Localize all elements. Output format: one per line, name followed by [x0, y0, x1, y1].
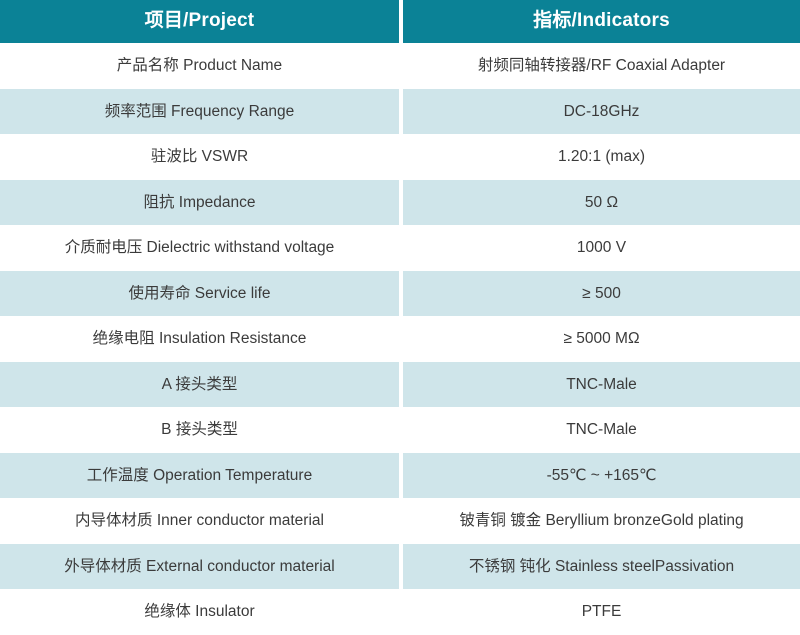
table-header: 项目/Project 指标/Indicators	[0, 0, 800, 43]
cell-indicators: 1000 V	[403, 225, 800, 271]
table-row: 绝缘体 InsulatorPTFE	[0, 589, 800, 635]
cell-project: 使用寿命 Service life	[0, 271, 399, 317]
table-row: 频率范围 Frequency RangeDC-18GHz	[0, 89, 800, 135]
cell-indicators: PTFE	[403, 589, 800, 635]
cell-indicators: 铍青铜 镀金 Beryllium bronzeGold plating	[403, 498, 800, 544]
table-row: 驻波比 VSWR1.20:1 (max)	[0, 134, 800, 180]
cell-indicators: ≥ 5000 MΩ	[403, 316, 800, 362]
header-row: 项目/Project 指标/Indicators	[0, 0, 800, 43]
table-row: 介质耐电压 Dielectric withstand voltage1000 V	[0, 225, 800, 271]
cell-project: 阻抗 Impedance	[0, 180, 399, 226]
specification-table: 项目/Project 指标/Indicators 产品名称 Product Na…	[0, 0, 800, 635]
column-header-indicators: 指标/Indicators	[403, 0, 800, 43]
cell-indicators: ≥ 500	[403, 271, 800, 317]
cell-indicators: TNC-Male	[403, 362, 800, 408]
cell-project: 绝缘体 Insulator	[0, 589, 399, 635]
cell-indicators: 50 Ω	[403, 180, 800, 226]
table-row: 绝缘电阻 Insulation Resistance≥ 5000 MΩ	[0, 316, 800, 362]
cell-indicators: 射频同轴转接器/RF Coaxial Adapter	[403, 43, 800, 89]
table-row: 外导体材质 External conductor material不锈钢 钝化 …	[0, 544, 800, 590]
cell-project: 频率范围 Frequency Range	[0, 89, 399, 135]
cell-project: 绝缘电阻 Insulation Resistance	[0, 316, 399, 362]
table-body: 产品名称 Product Name射频同轴转接器/RF Coaxial Adap…	[0, 43, 800, 635]
table-row: 阻抗 Impedance50 Ω	[0, 180, 800, 226]
cell-indicators: DC-18GHz	[403, 89, 800, 135]
cell-project: 工作温度 Operation Temperature	[0, 453, 399, 499]
table-row: 使用寿命 Service life≥ 500	[0, 271, 800, 317]
table-row: 产品名称 Product Name射频同轴转接器/RF Coaxial Adap…	[0, 43, 800, 89]
cell-project: A 接头类型	[0, 362, 399, 408]
column-header-project: 项目/Project	[0, 0, 399, 43]
cell-project: B 接头类型	[0, 407, 399, 453]
cell-indicators: 不锈钢 钝化 Stainless steelPassivation	[403, 544, 800, 590]
table-row: A 接头类型TNC-Male	[0, 362, 800, 408]
cell-indicators: 1.20:1 (max)	[403, 134, 800, 180]
table-row: B 接头类型TNC-Male	[0, 407, 800, 453]
cell-project: 内导体材质 Inner conductor material	[0, 498, 399, 544]
cell-project: 驻波比 VSWR	[0, 134, 399, 180]
cell-project: 产品名称 Product Name	[0, 43, 399, 89]
cell-indicators: -55℃ ~ +165℃	[403, 453, 800, 499]
cell-project: 外导体材质 External conductor material	[0, 544, 399, 590]
cell-indicators: TNC-Male	[403, 407, 800, 453]
table-row: 工作温度 Operation Temperature-55℃ ~ +165℃	[0, 453, 800, 499]
table-row: 内导体材质 Inner conductor material铍青铜 镀金 Ber…	[0, 498, 800, 544]
cell-project: 介质耐电压 Dielectric withstand voltage	[0, 225, 399, 271]
